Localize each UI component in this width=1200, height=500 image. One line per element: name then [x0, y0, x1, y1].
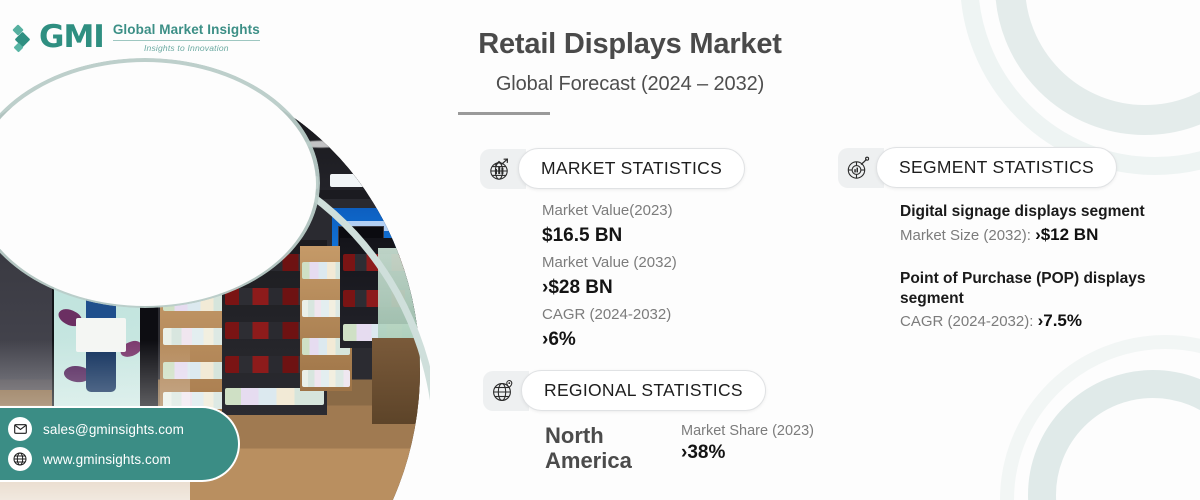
- contact-email: sales@gminsights.com: [43, 422, 184, 437]
- region-share-label: Market Share (2023): [681, 423, 814, 439]
- market-cagr-label: CAGR (2024-2032): [542, 304, 745, 327]
- segment-statistics-header: SEGMENT STATISTICS: [838, 147, 1180, 188]
- gmi-logo-text: GMI: [39, 22, 104, 53]
- brand-tagline: Insights to Innovation: [113, 43, 260, 53]
- segment-spacer: [900, 245, 1180, 269]
- market-statistics-list: Market Value(2023) $16.5 BN Market Value…: [542, 200, 745, 352]
- segment-statistics-section: SEGMENT STATISTICS Digital signage displ…: [838, 147, 1180, 331]
- segment-metric-label: CAGR (2024-2032):: [900, 313, 1038, 330]
- page-title: Retail Displays Market: [455, 28, 805, 61]
- brand-name: Global Market Insights: [113, 22, 260, 37]
- region-share-value: ›38%: [681, 442, 814, 464]
- segment-statistics-list: Digital signage displays segment Market …: [900, 202, 1180, 331]
- market-cagr: CAGR (2024-2032) ›6%: [542, 304, 745, 352]
- market-statistics-section: MARKET STATISTICS Market Value(2023) $16…: [480, 148, 745, 352]
- gmi-logo-wordmark: Global Market Insights Insights to Innov…: [113, 22, 260, 53]
- segment-item-digital-signage: Digital signage displays segment Market …: [900, 202, 1180, 245]
- contact-website-row[interactable]: www.gminsights.com: [8, 447, 238, 471]
- regional-statistics-content: North America Market Share (2023) ›38%: [545, 423, 814, 474]
- brand-divider: [113, 40, 260, 41]
- segment-name: Digital signage displays segment: [900, 202, 1180, 222]
- market-statistics-label: MARKET STATISTICS: [541, 158, 722, 179]
- segment-metric-value: ›$12 BN: [1035, 225, 1098, 244]
- segment-metric-label: Market Size (2032):: [900, 227, 1035, 244]
- segment-item-pop-displays: Point of Purchase (POP) displays segment…: [900, 269, 1180, 332]
- envelope-icon: [8, 417, 32, 441]
- market-value-2032: Market Value (2032) ›$28 BN: [542, 252, 745, 300]
- contact-website: www.gminsights.com: [43, 452, 171, 467]
- regional-statistics-pill[interactable]: REGIONAL STATISTICS: [521, 370, 766, 411]
- contact-badge: sales@gminsights.com www.gminsights.com: [0, 406, 240, 482]
- gmi-logo[interactable]: GMI Global Market Insights Insights to I…: [14, 22, 260, 53]
- infographic-canvas: GMI Global Market Insights Insights to I…: [0, 0, 1200, 500]
- decorative-arc-bottom-right-inner: [1028, 370, 1200, 500]
- market-cagr-value: ›6%: [542, 327, 745, 353]
- region-share: Market Share (2023) ›38%: [681, 423, 814, 464]
- market-value-2032-label: Market Value (2032): [542, 252, 745, 275]
- wooden-endcap-fixture: [372, 338, 430, 424]
- segment-metric: Market Size (2032): ›$12 BN: [900, 225, 1180, 245]
- page-subtitle: Global Forecast (2024 – 2032): [455, 73, 805, 96]
- regional-statistics-header: REGIONAL STATISTICS: [483, 370, 814, 411]
- product-row: [302, 370, 350, 387]
- market-value-2023-value: $16.5 BN: [542, 223, 745, 249]
- regional-statistics-section: REGIONAL STATISTICS North America Market…: [483, 370, 814, 474]
- globe-icon: [8, 447, 32, 471]
- region-name: North America: [545, 423, 655, 474]
- segment-metric-value: ›7.5%: [1038, 311, 1082, 330]
- market-value-2032-value: ›$28 BN: [542, 275, 745, 301]
- segment-metric: CAGR (2024-2032): ›7.5%: [900, 311, 1180, 331]
- gmi-diamonds-logo-icon: [14, 23, 30, 53]
- market-statistics-pill[interactable]: MARKET STATISTICS: [518, 148, 745, 189]
- regional-statistics-label: REGIONAL STATISTICS: [544, 380, 743, 401]
- market-statistics-header: MARKET STATISTICS: [480, 148, 745, 189]
- segment-name: Point of Purchase (POP) displays segment: [900, 269, 1180, 309]
- market-value-2023-label: Market Value(2023): [542, 200, 745, 223]
- segment-statistics-pill[interactable]: SEGMENT STATISTICS: [876, 147, 1117, 188]
- segment-statistics-label: SEGMENT STATISTICS: [899, 157, 1094, 178]
- header: Retail Displays Market Global Forecast (…: [455, 28, 1155, 115]
- market-value-2023: Market Value(2023) $16.5 BN: [542, 200, 745, 248]
- decorative-arc-bottom-right-outer: [1000, 335, 1200, 500]
- contact-email-row[interactable]: sales@gminsights.com: [8, 417, 238, 441]
- light-bar: [330, 174, 422, 187]
- title-divider: [458, 112, 550, 115]
